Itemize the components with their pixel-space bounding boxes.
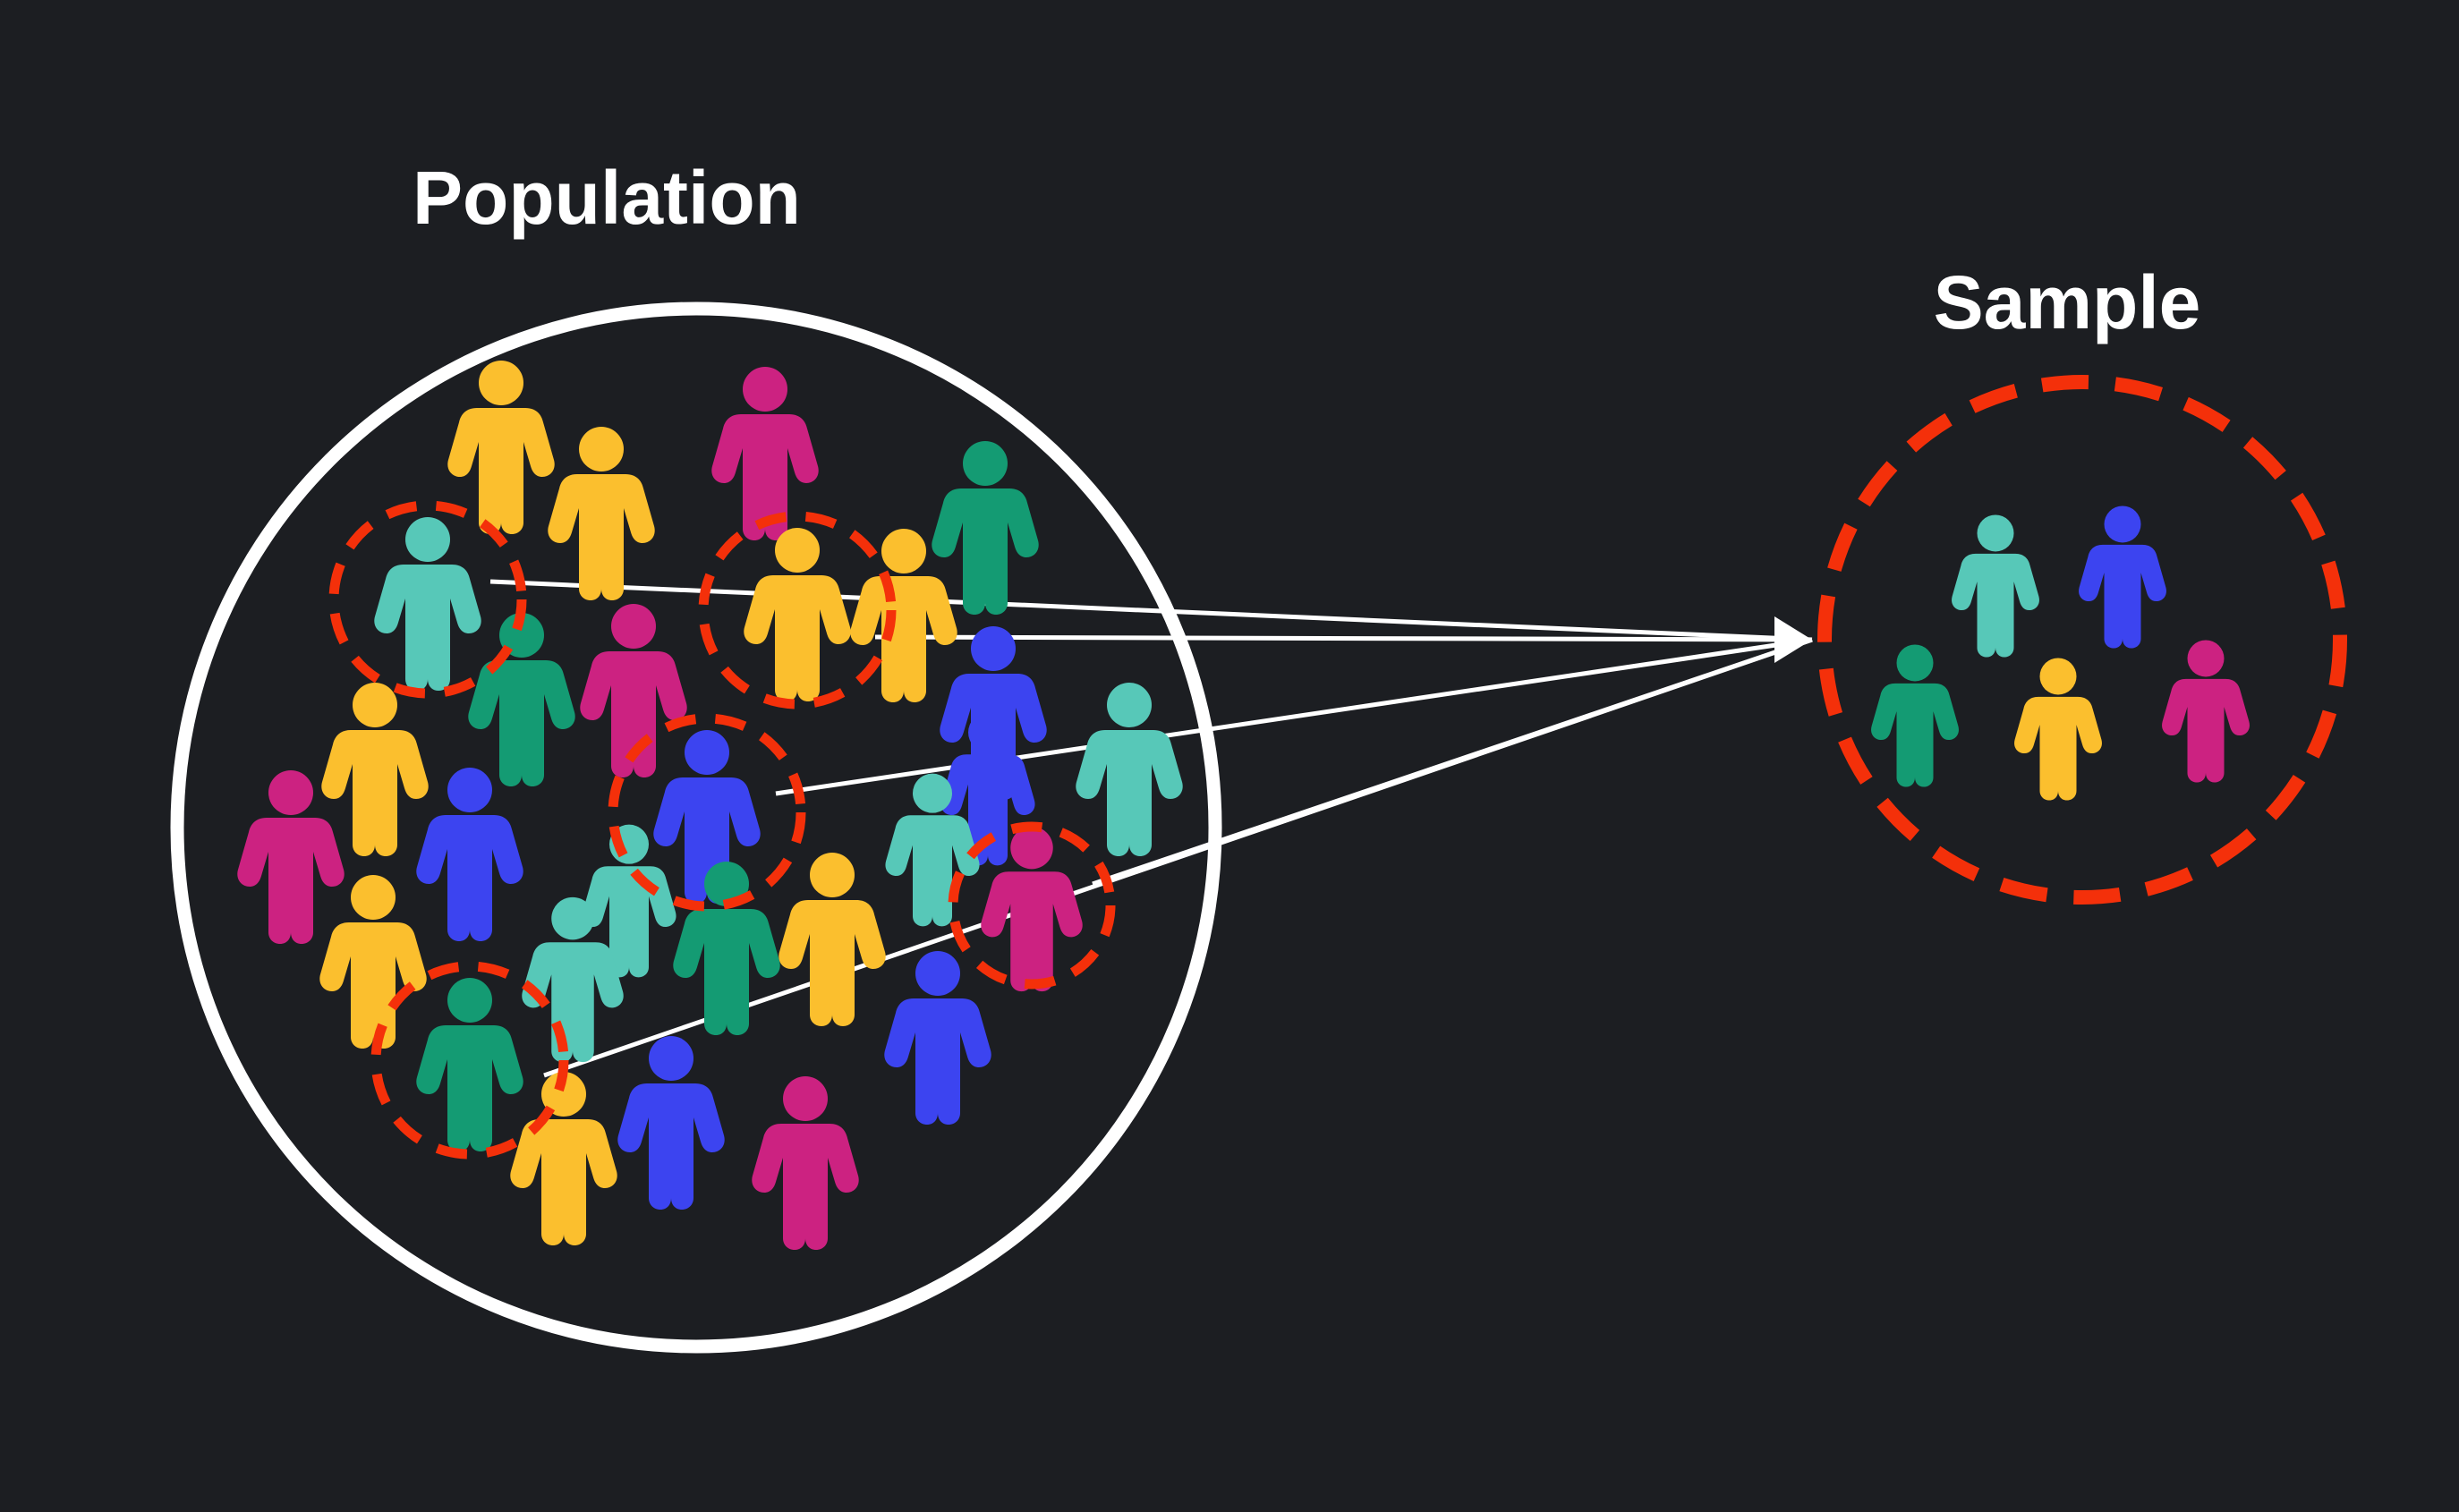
population-sample-diagram: Population Sample <box>0 0 2459 1512</box>
sample-label: Sample <box>1934 260 2201 344</box>
diagram-canvas: Population Sample <box>0 0 2459 1512</box>
sampling-arrow-2 <box>875 637 1812 640</box>
population-label: Population <box>413 156 801 240</box>
